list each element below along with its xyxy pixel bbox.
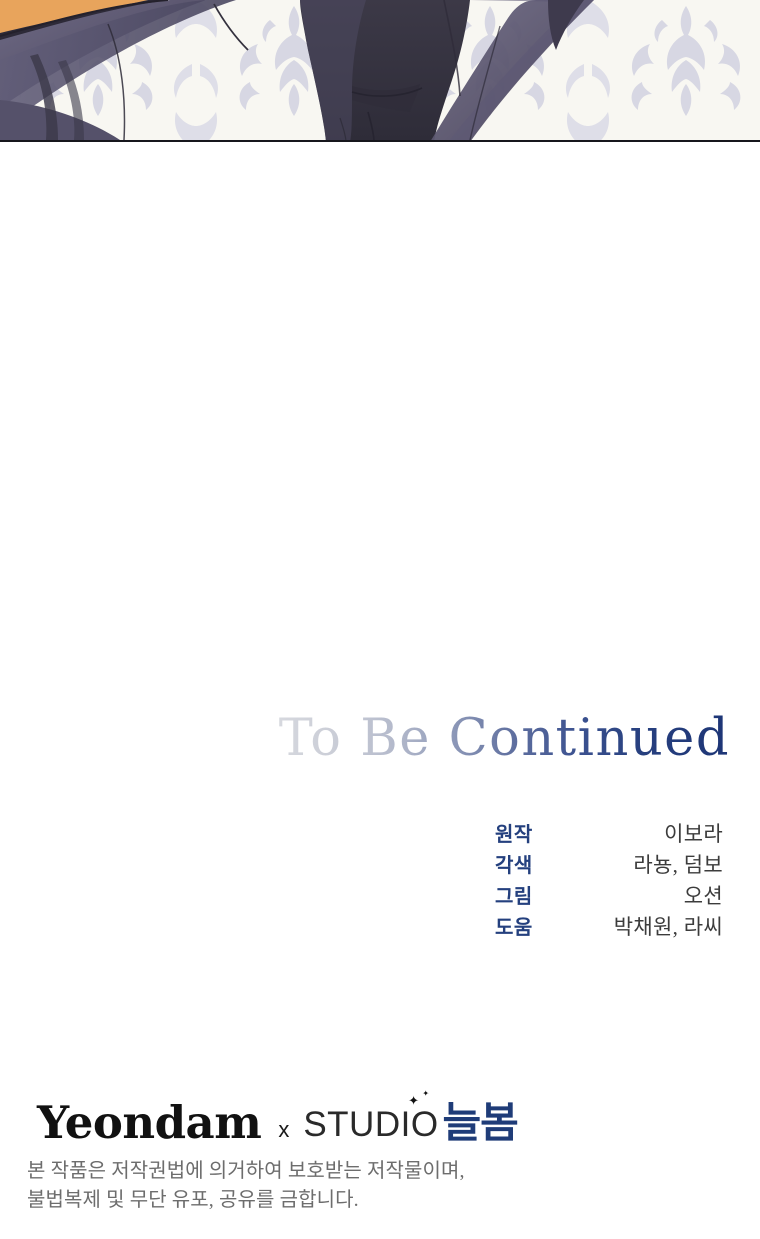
credit-row-assist: 도움 박채원, 라씨 [0,911,760,942]
credit-value-assist: 박채원, 라씨 [590,911,723,941]
studio-wordmark: STUDIO ✦ ✦ [303,1107,438,1142]
logo-separator-x: x [278,1119,289,1141]
credit-value-art: 오션 [590,880,723,910]
panel-artwork [0,0,760,142]
logo-row: Yeondam x STUDIO ✦ ✦ 늘봄 [0,1089,760,1145]
webtoon-panel [0,0,760,142]
credit-value-adaptation: 라뇽, 덤보 [590,849,723,879]
footer-logos: Yeondam x STUDIO ✦ ✦ 늘봄 [0,1089,760,1145]
star-small-icon: ✦ [422,1090,429,1098]
yeondam-logo: Yeondam [37,1100,261,1145]
credit-row-art: 그림 오션 [0,880,760,911]
neulbom-logo: 늘봄 [443,1102,518,1144]
credits-list: 원작 이보라 각색 라뇽, 덤보 그림 오션 도움 박채원, 라씨 [0,818,760,942]
credit-label-assist: 도움 [495,911,590,940]
to-be-continued-block: To Be Continued [0,688,760,768]
studio-wordmark-text: STUDIO [303,1105,438,1144]
to-be-continued-text: To Be Continued [279,709,730,768]
copyright-notice: 본 작품은 저작권법에 의거하여 보호받는 저작물이며, 불법복제 및 무단 유… [27,1157,627,1215]
credit-label-art: 그림 [495,880,590,909]
credit-row-adaptation: 각색 라뇽, 덤보 [0,849,760,880]
star-icon: ✦ [408,1094,419,1107]
copyright-line-1: 본 작품은 저작권법에 의거하여 보호받는 저작물이며, [27,1157,627,1186]
credit-label-original: 원작 [495,818,590,847]
credit-row-original: 원작 이보라 [0,818,760,849]
credit-label-adaptation: 각색 [495,849,590,878]
copyright-line-2: 불법복제 및 무단 유포, 공유를 금합니다. [27,1186,627,1215]
credit-value-original: 이보라 [590,818,723,848]
